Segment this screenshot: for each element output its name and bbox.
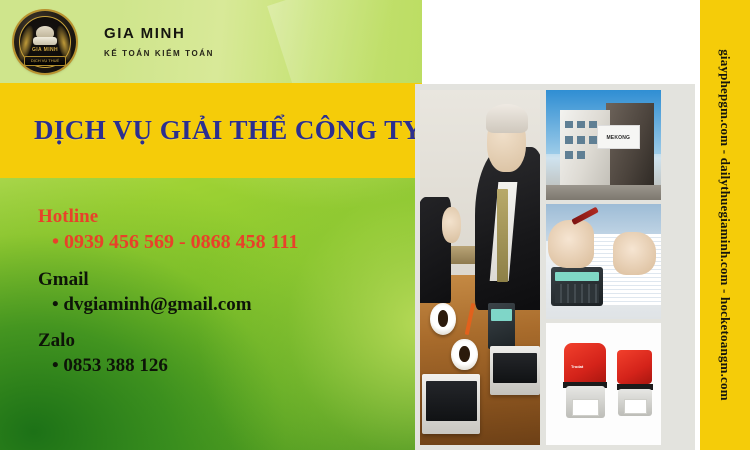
coffee-cup-two bbox=[451, 339, 477, 371]
building-window bbox=[565, 151, 573, 159]
coffee-cup-one bbox=[430, 303, 456, 335]
meeting-hand-second bbox=[442, 207, 461, 243]
contact-label-zalo: Zalo bbox=[38, 329, 418, 353]
company-logo-icon: GIA MINH DỊCH VỤ THUẾ bbox=[14, 11, 76, 73]
stamp-one-slot bbox=[572, 399, 598, 417]
stamp-brand-text: Trodat bbox=[571, 364, 583, 369]
desk-calculator bbox=[488, 303, 514, 349]
stamp-two-slot bbox=[624, 399, 647, 414]
title-band: DỊCH VỤ GIẢI THỂ CÔNG TY bbox=[0, 83, 422, 178]
building-window bbox=[577, 121, 585, 129]
stamp-one-body: Trodat bbox=[564, 343, 605, 384]
contact-value-hotline[interactable]: • 0939 456 569 - 0868 458 111 bbox=[52, 229, 418, 256]
meeting-person-tie bbox=[497, 189, 508, 281]
calc-device bbox=[551, 267, 604, 306]
calc-keypad bbox=[555, 284, 599, 304]
accounting-calculator-photo bbox=[546, 204, 661, 319]
contact-group-gmail: Gmail • dvgiaminh@gmail.com bbox=[38, 268, 418, 317]
logo-emblem-icon bbox=[36, 26, 54, 40]
building-window bbox=[565, 136, 573, 144]
contact-value-gmail[interactable]: • dvgiaminh@gmail.com bbox=[52, 292, 418, 318]
building-window bbox=[577, 151, 585, 159]
contact-value-zalo[interactable]: • 0853 388 126 bbox=[52, 353, 418, 379]
building-sign-text: MEKONG bbox=[598, 135, 639, 141]
contact-group-hotline: Hotline • 0939 456 569 - 0868 458 111 bbox=[38, 205, 418, 256]
laptop-one bbox=[422, 374, 480, 434]
website-vertical-text: giayphepgm.com - dailythuegiaminh.com - … bbox=[717, 49, 733, 401]
building-window bbox=[577, 136, 585, 144]
contact-label-gmail: Gmail bbox=[38, 268, 418, 292]
photo-collage: MEKONG Trodat bbox=[415, 84, 700, 450]
contact-label-hotline: Hotline bbox=[38, 205, 418, 229]
meeting-photo bbox=[420, 90, 540, 445]
brand-text-block: GIA MINH KẾ TOÁN KIỂM TOÁN bbox=[104, 26, 214, 58]
rubber-stamps-photo: Trodat bbox=[546, 323, 661, 445]
brand-tagline: KẾ TOÁN KIỂM TOÁN bbox=[104, 49, 214, 58]
building-street bbox=[546, 185, 661, 200]
office-building-photo: MEKONG bbox=[546, 90, 661, 200]
logo-inner-subtext: DỊCH VỤ THUẾ bbox=[24, 56, 66, 66]
calc-hand-right bbox=[613, 232, 657, 276]
calc-hand-left bbox=[548, 220, 594, 268]
building-window bbox=[565, 121, 573, 129]
stamp-two-body bbox=[617, 350, 652, 384]
meeting-person-hair bbox=[486, 104, 528, 132]
website-strip: giayphepgm.com - dailythuegiaminh.com - … bbox=[700, 0, 750, 450]
building-signboard: MEKONG bbox=[597, 125, 640, 149]
laptop-two bbox=[490, 346, 540, 396]
brand-name: GIA MINH bbox=[104, 26, 214, 43]
logo-inner-name: GIA MINH bbox=[32, 47, 58, 53]
page-title: DỊCH VỤ GIẢI THỂ CÔNG TY bbox=[34, 115, 422, 146]
contact-group-zalo: Zalo • 0853 388 126 bbox=[38, 329, 418, 378]
advertising-banner: GIA MINH DỊCH VỤ THUẾ GIA MINH KẾ TOÁN K… bbox=[0, 0, 750, 450]
brand-header: GIA MINH DỊCH VỤ THUẾ GIA MINH KẾ TOÁN K… bbox=[0, 0, 422, 84]
contact-block: Hotline • 0939 456 569 - 0868 458 111 Gm… bbox=[38, 205, 418, 391]
